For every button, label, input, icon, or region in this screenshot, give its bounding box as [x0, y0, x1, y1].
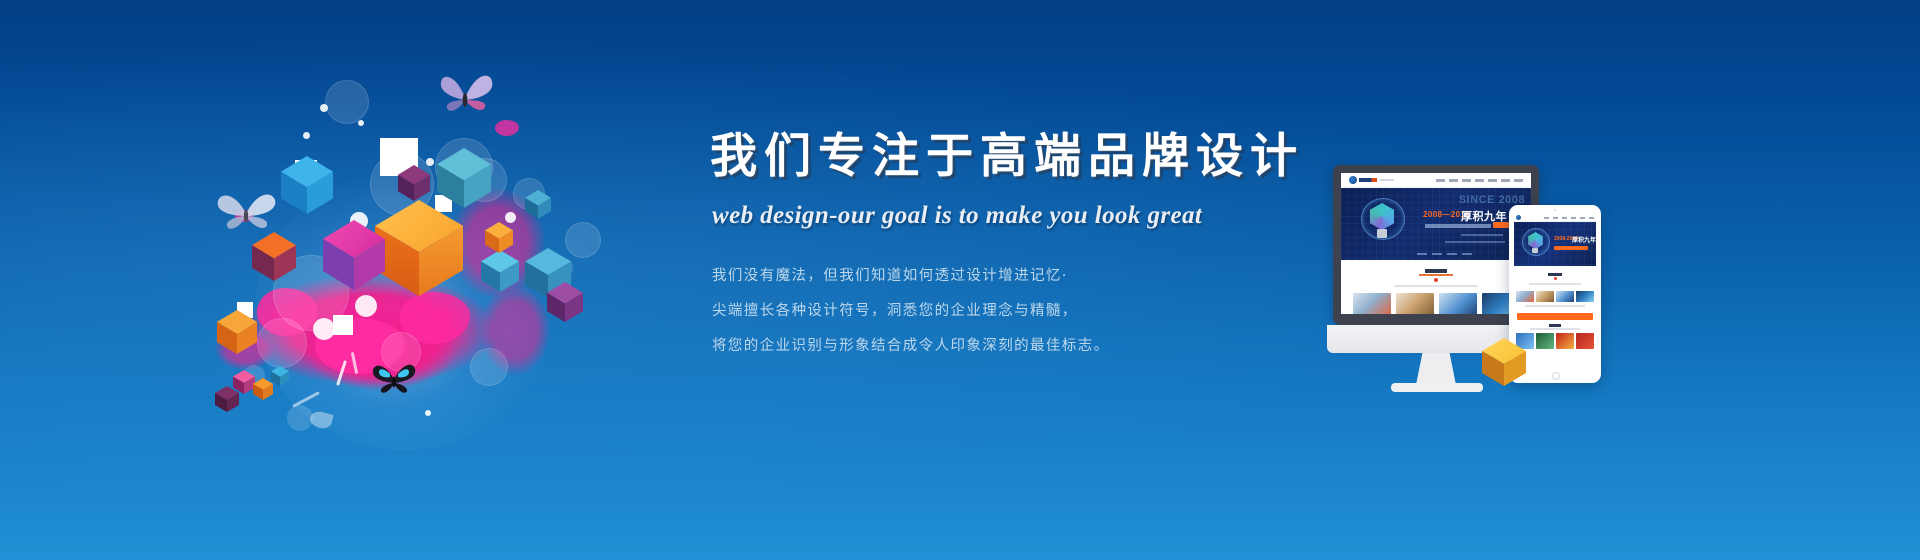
hero-since-text: SINCE 2008 — [1459, 194, 1525, 206]
card — [1556, 333, 1574, 349]
nav-item — [1488, 179, 1497, 182]
tablet-site-content — [1514, 266, 1596, 352]
cube-orange-large — [375, 200, 463, 296]
tablet-screen: 2008-2016 厚积九年 — [1514, 214, 1596, 372]
cube-right-purple — [547, 282, 583, 322]
cube-magenta — [323, 220, 385, 290]
card — [1576, 333, 1594, 349]
cube-upper-right — [525, 190, 551, 219]
paint-splatter-core — [495, 120, 519, 136]
decorative-orange-cube — [1482, 338, 1526, 386]
cube-tiny-4 — [271, 366, 289, 386]
cube-tiny-3 — [215, 386, 239, 412]
abstract-artwork — [195, 60, 625, 490]
tablet-cta-bar — [1517, 313, 1593, 320]
description-line: 将您的企业识别与形象结合成令人印象深刻的最佳标志。 — [712, 336, 1330, 356]
tablet-home-button[interactable] — [1552, 372, 1560, 380]
section-divider — [1529, 283, 1581, 285]
site-content — [1341, 260, 1531, 314]
nav-item — [1562, 217, 1567, 219]
monitor-screen: SINCE 2008 2008—2016 厚积九年 — [1341, 173, 1531, 314]
card-row — [1516, 333, 1594, 349]
cube-tiny-2 — [253, 378, 273, 400]
thumbnail — [1396, 293, 1434, 314]
section-subtitle-bar — [1419, 274, 1453, 276]
tablet-site-hero: 2008-2016 厚积九年 — [1514, 222, 1596, 266]
cube-cyan-small — [481, 250, 519, 292]
nav-item — [1571, 217, 1576, 219]
thumbnail-row — [1349, 293, 1523, 314]
monitor-stand-neck — [1416, 353, 1456, 385]
card — [1536, 333, 1554, 349]
white-square — [333, 315, 353, 335]
text-block: 我们专注于高端品牌设计 web design-our goal is to ma… — [710, 128, 1330, 371]
hero-title-text: 厚积九年 — [1572, 235, 1596, 244]
description: 我们没有魔法，但我们知道如何透过设计增进记忆· 尖端擅长各种设计符号，洞悉您的企… — [712, 266, 1330, 356]
bokeh-dot — [313, 318, 335, 340]
page-title: 我们专注于高端品牌设计 — [710, 128, 1330, 186]
lightbulb-graphic — [1361, 198, 1403, 244]
thumbnail — [1353, 293, 1391, 314]
section-divider — [1525, 305, 1585, 307]
site-navbar — [1341, 173, 1531, 188]
nav-item — [1580, 217, 1585, 219]
butterfly-icon — [213, 188, 279, 238]
description-line: 尖端擅长各种设计符号，洞悉您的企业理念与精髓， — [712, 301, 1330, 321]
bokeh-circle — [257, 318, 307, 368]
nav-item — [1501, 179, 1510, 182]
site-nav-items — [1544, 217, 1594, 219]
bulb-base — [1532, 248, 1538, 253]
bokeh-dot — [303, 132, 310, 139]
bokeh-circle — [325, 80, 369, 124]
tablet-camera — [1554, 209, 1556, 211]
thumbnail — [1516, 291, 1534, 302]
thumbnail — [1556, 291, 1574, 302]
butterfly-icon — [435, 70, 495, 118]
site-nav-items — [1436, 179, 1523, 182]
site-logo-text — [1359, 178, 1377, 182]
subtitle: web design-our goal is to make you look … — [712, 200, 1330, 232]
bulb-base — [1377, 229, 1387, 238]
bokeh-circle — [470, 348, 508, 386]
thumbnail — [1536, 291, 1554, 302]
cube-blue — [281, 156, 333, 214]
nav-item — [1553, 217, 1558, 219]
slider-dot — [1447, 253, 1457, 255]
section-title-bar — [1549, 324, 1561, 327]
hero-banner: 我们专注于高端品牌设计 web design-our goal is to ma… — [0, 0, 1920, 560]
section-title-bar — [1548, 273, 1562, 276]
cube-teal — [437, 148, 491, 208]
thumbnail — [1439, 293, 1477, 314]
cube-orange-small — [485, 222, 513, 253]
nav-item — [1589, 217, 1594, 219]
nav-item — [1449, 179, 1458, 182]
website-preview: SINCE 2008 2008—2016 厚积九年 — [1341, 173, 1531, 314]
bokeh-dot — [320, 104, 328, 112]
nav-item — [1462, 179, 1471, 182]
tablet-site-navbar — [1514, 214, 1596, 222]
hero-cta-button — [1493, 222, 1509, 228]
slider-dot — [1417, 253, 1427, 255]
site-logo-icon — [1516, 215, 1521, 220]
butterfly-icon — [370, 360, 418, 400]
section-accent-dot — [1554, 277, 1557, 280]
hero-slider-dots — [1417, 253, 1472, 255]
section-title-bar — [1425, 269, 1447, 273]
cube-orange-lower — [217, 310, 257, 354]
section-divider — [1530, 328, 1580, 330]
nav-item — [1475, 179, 1484, 182]
monitor-stand-base — [1391, 383, 1483, 392]
cube-slate — [252, 232, 296, 281]
thumbnail — [1576, 291, 1594, 302]
site-logo-icon — [1349, 176, 1357, 184]
section-divider — [1394, 285, 1478, 287]
description-line: 我们没有魔法，但我们知道如何透过设计增进记忆· — [712, 266, 1330, 286]
device-mockups: SINCE 2008 2008—2016 厚积九年 — [1330, 160, 1660, 390]
thumbnail-row — [1516, 291, 1594, 302]
nav-item — [1544, 217, 1549, 219]
hero-line — [1461, 234, 1503, 236]
hero-cta-button — [1554, 246, 1588, 250]
slider-dot — [1462, 253, 1472, 255]
site-hero: SINCE 2008 2008—2016 厚积九年 — [1341, 188, 1531, 260]
nav-item — [1514, 179, 1523, 182]
bokeh-dot — [358, 120, 364, 126]
cube-purple-small — [398, 165, 430, 201]
section-accent-dot — [1434, 278, 1438, 282]
site-logo-subtext — [1380, 179, 1394, 181]
nav-item — [1436, 179, 1445, 182]
bokeh-dot — [425, 410, 431, 416]
slider-dot — [1432, 253, 1442, 255]
hero-line — [1445, 241, 1505, 243]
lightbulb-graphic — [1522, 228, 1548, 258]
hero-description-bar — [1425, 224, 1491, 228]
bokeh-dot — [355, 295, 377, 317]
